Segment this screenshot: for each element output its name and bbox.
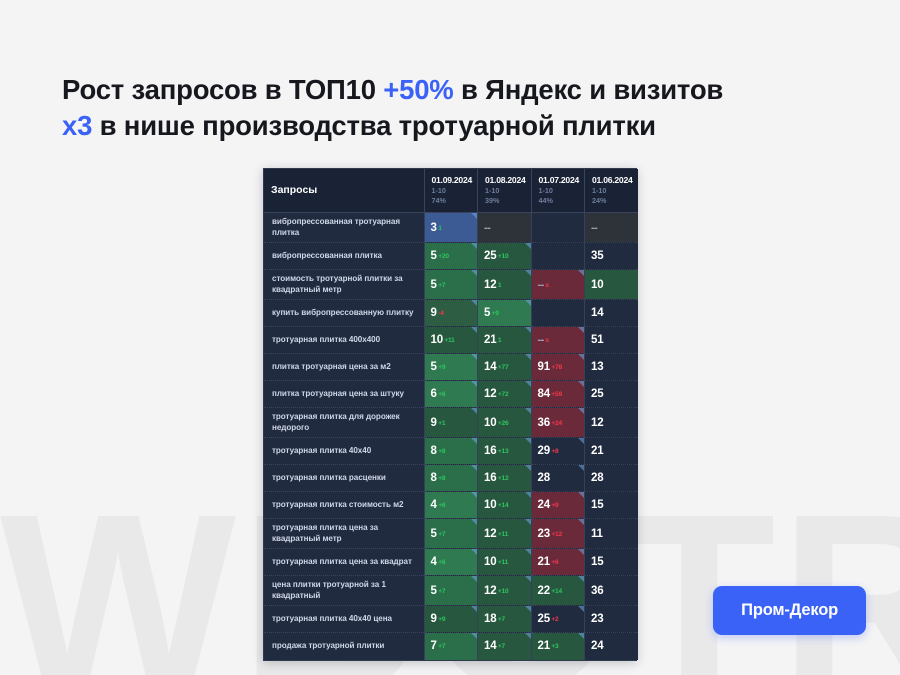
position-cell: 15 (585, 492, 639, 519)
position-cell: -- (585, 213, 639, 243)
position-value: -- (538, 334, 544, 346)
position-cell: 24+9 (531, 492, 585, 519)
position-cell: 8+8 (424, 465, 478, 492)
position-cell: 12+10 (478, 576, 532, 606)
position-delta: +9 (492, 310, 499, 317)
position-delta: +59 (551, 391, 562, 398)
column-header-date-3: 01.06.2024 1-10 24% (585, 169, 639, 213)
position-value: 12 (484, 279, 496, 291)
position-delta: x (545, 282, 548, 289)
query-cell: тротуарная плитка расценки (264, 465, 424, 492)
position-value: 51 (591, 334, 603, 346)
position-value: 13 (591, 361, 603, 373)
position-value: 25 (538, 613, 550, 625)
position-cell: 4+6 (424, 549, 478, 576)
position-delta: +10 (498, 253, 509, 260)
column-header-queries: Запросы (264, 169, 424, 213)
position-value: 12 (484, 585, 496, 597)
position-delta: +8 (438, 448, 445, 455)
position-cell: 16+12 (478, 465, 532, 492)
table-row: плитка тротуарная цена за штуку6+612+728… (264, 381, 638, 408)
position-cell: 10+11 (424, 327, 478, 354)
position-cell: 12+11 (478, 519, 532, 549)
position-value: -- (591, 222, 597, 234)
position-delta: +13 (498, 448, 509, 455)
position-value: 25 (591, 388, 603, 400)
position-delta: +77 (498, 364, 509, 371)
position-delta: +12 (498, 475, 509, 482)
position-cell: 211 (478, 327, 532, 354)
cta-button[interactable]: Пром-Декор (713, 586, 866, 635)
position-cell: 23+12 (531, 519, 585, 549)
position-delta: +7 (498, 643, 505, 650)
percent-label: 74% (432, 196, 471, 205)
position-delta: +20 (438, 253, 449, 260)
position-cell: 6+6 (424, 381, 478, 408)
position-cell: 28 (585, 465, 639, 492)
position-value: 15 (591, 556, 603, 568)
query-cell: тротуарная плитка стоимость м2 (264, 492, 424, 519)
position-value: 3 (431, 222, 437, 234)
table-row: тротуарная плитка для дорожек недорого9+… (264, 408, 638, 438)
position-delta: +11 (498, 559, 508, 566)
range-label: 1-10 (485, 186, 524, 195)
position-value: 18 (484, 613, 496, 625)
query-cell: плитка тротуарная цена за штуку (264, 381, 424, 408)
position-value: 10 (484, 499, 496, 511)
position-value: 21 (538, 556, 550, 568)
position-cell: 14+7 (478, 633, 532, 660)
position-delta: +6 (551, 559, 558, 566)
position-delta: +72 (498, 391, 509, 398)
position-value: 24 (538, 499, 550, 511)
position-delta: +7 (438, 588, 445, 595)
position-value: 28 (591, 472, 603, 484)
position-delta: +7 (438, 531, 445, 538)
position-cell: 21+6 (531, 549, 585, 576)
position-delta: +9 (438, 616, 445, 623)
range-label: 1-10 (432, 186, 471, 195)
position-value: 5 (431, 279, 437, 291)
position-cell: 25 (585, 381, 639, 408)
position-delta: +6 (438, 559, 445, 566)
position-value: 21 (538, 640, 550, 652)
table-row: вибропрессованная плитка5+2025+1035 (264, 243, 638, 270)
position-value: 84 (538, 388, 550, 400)
table-row: стоимость тротуарной плитки за квадратны… (264, 270, 638, 300)
query-cell: тротуарная плитка цена за квадратный мет… (264, 519, 424, 549)
position-value: 9 (431, 417, 437, 429)
position-value: 5 (431, 528, 437, 540)
position-value: 22 (538, 585, 550, 597)
table-row: вибропрессованная тротуарная плитка31---… (264, 213, 638, 243)
position-value: 8 (431, 472, 437, 484)
position-cell: 5+9 (424, 354, 478, 381)
query-cell: тротуарная плитка 40x40 цена (264, 606, 424, 633)
table-row: тротуарная плитка 40x408+816+1329+821 (264, 438, 638, 465)
position-value: 10 (484, 556, 496, 568)
position-delta: +7 (438, 643, 445, 650)
position-cell: 121 (478, 270, 532, 300)
position-delta: 1 (498, 337, 501, 344)
headline-line1-before: Рост запросов в ТОП10 (62, 74, 383, 105)
position-value: 16 (484, 472, 496, 484)
position-delta: +8 (551, 448, 558, 455)
position-value: 21 (591, 445, 603, 457)
position-cell: 4+6 (424, 492, 478, 519)
position-delta: +7 (438, 282, 445, 289)
position-delta: +10 (498, 588, 509, 595)
percent-label: 39% (485, 196, 524, 205)
position-delta: +24 (551, 420, 562, 427)
position-value: 91 (538, 361, 550, 373)
position-value: 12 (484, 388, 496, 400)
position-cell: 24 (585, 633, 639, 660)
range-label: 1-10 (539, 186, 578, 195)
position-delta: +9 (551, 502, 558, 509)
position-delta: +2 (551, 616, 558, 623)
position-delta: +11 (498, 531, 508, 538)
position-cell: 25+2 (531, 606, 585, 633)
position-value: 8 (431, 445, 437, 457)
table-head: Запросы 01.09.2024 1-10 74% 01.08.2024 1… (264, 169, 638, 213)
percent-label: 24% (592, 196, 631, 205)
rankings-table: Запросы 01.09.2024 1-10 74% 01.08.2024 1… (264, 169, 638, 660)
position-value: 10 (591, 279, 603, 291)
query-cell: тротуарная плитка для дорожек недорого (264, 408, 424, 438)
position-cell: 14+77 (478, 354, 532, 381)
position-cell: 16+13 (478, 438, 532, 465)
position-delta: +78 (551, 364, 562, 371)
position-delta: +3 (551, 643, 558, 650)
position-cell: 8+8 (424, 438, 478, 465)
position-value: 36 (591, 585, 603, 597)
position-value: 35 (591, 250, 603, 262)
position-value: 16 (484, 445, 496, 457)
query-cell: вибропрессованная плитка (264, 243, 424, 270)
headline-line1-after: в Яндекс и визитов (454, 74, 724, 105)
position-delta: +11 (444, 337, 454, 344)
position-value: 9 (431, 613, 437, 625)
position-cell: 12 (585, 408, 639, 438)
position-cell: 36 (585, 576, 639, 606)
position-cell: --x (531, 270, 585, 300)
position-cell: 5+20 (424, 243, 478, 270)
column-header-date-1: 01.08.2024 1-10 39% (478, 169, 532, 213)
date-label: 01.06.2024 (592, 175, 631, 185)
position-cell: 23 (585, 606, 639, 633)
position-value: 36 (538, 417, 550, 429)
position-cell: 5+7 (424, 576, 478, 606)
position-value: 5 (431, 585, 437, 597)
position-delta: +9 (438, 364, 445, 371)
position-cell: 7+7 (424, 633, 478, 660)
position-cell: 9-4 (424, 300, 478, 327)
position-value: 9 (431, 307, 437, 319)
table-row: тротуарная плитка 40x40 цена9+918+725+22… (264, 606, 638, 633)
range-label: 1-10 (592, 186, 631, 195)
position-delta: +12 (551, 531, 562, 538)
position-cell: 84+59 (531, 381, 585, 408)
position-value: 12 (591, 417, 603, 429)
position-cell: 91+78 (531, 354, 585, 381)
position-delta: +6 (438, 502, 445, 509)
position-delta: +1 (438, 420, 445, 427)
table-row: цена плитки тротуарной за 1 квадратный5+… (264, 576, 638, 606)
query-cell: стоимость тротуарной плитки за квадратны… (264, 270, 424, 300)
position-cell: 10+26 (478, 408, 532, 438)
position-value: 4 (431, 556, 437, 568)
position-cell: 10+11 (478, 549, 532, 576)
position-cell (531, 243, 585, 270)
position-cell: 5+9 (478, 300, 532, 327)
position-value: 14 (484, 361, 496, 373)
position-cell: 9+9 (424, 606, 478, 633)
query-cell: вибропрессованная тротуарная плитка (264, 213, 424, 243)
position-cell: 29+8 (531, 438, 585, 465)
table-row: плитка тротуарная цена за м25+914+7791+7… (264, 354, 638, 381)
page-title: Рост запросов в ТОП10 +50% в Яндекс и ви… (62, 72, 852, 145)
position-cell: -- (478, 213, 532, 243)
position-delta: +14 (498, 502, 509, 509)
position-value: 23 (591, 613, 603, 625)
position-cell: 10+14 (478, 492, 532, 519)
position-value: -- (538, 279, 544, 291)
position-cell: 51 (585, 327, 639, 354)
query-cell: цена плитки тротуарной за 1 квадратный (264, 576, 424, 606)
position-cell: 9+1 (424, 408, 478, 438)
position-cell: 14 (585, 300, 639, 327)
position-value: 7 (431, 640, 437, 652)
date-label: 01.07.2024 (539, 175, 578, 185)
position-cell: 5+7 (424, 270, 478, 300)
position-cell: 11 (585, 519, 639, 549)
query-cell: тротуарная плитка 400x400 (264, 327, 424, 354)
position-value: 5 (431, 361, 437, 373)
position-cell (531, 213, 585, 243)
position-value: 25 (484, 250, 496, 262)
position-delta: 1 (438, 225, 441, 232)
position-delta: +7 (498, 616, 505, 623)
position-cell: 21 (585, 438, 639, 465)
position-cell: 10 (585, 270, 639, 300)
position-delta: +6 (438, 391, 445, 398)
position-cell: --x (531, 327, 585, 354)
position-delta: -4 (438, 310, 443, 317)
position-value: -- (484, 222, 490, 234)
position-value: 24 (591, 640, 603, 652)
position-cell: 5+7 (424, 519, 478, 549)
position-cell: 15 (585, 549, 639, 576)
position-value: 6 (431, 388, 437, 400)
date-label: 01.08.2024 (485, 175, 524, 185)
position-cell: 12+72 (478, 381, 532, 408)
headline-line2-after: в нише производства тротуарной плитки (92, 110, 656, 141)
position-value: 10 (431, 334, 443, 346)
position-delta: x (545, 337, 548, 344)
column-header-date-2: 01.07.2024 1-10 44% (531, 169, 585, 213)
date-label: 01.09.2024 (432, 175, 471, 185)
query-cell: тротуарная плитка цена за квадрат (264, 549, 424, 576)
headline-accent-percent: +50% (383, 74, 453, 105)
table-header-row: Запросы 01.09.2024 1-10 74% 01.08.2024 1… (264, 169, 638, 213)
table-row: купить вибропрессованную плитку9-45+914 (264, 300, 638, 327)
position-delta: +8 (438, 475, 445, 482)
position-value: 14 (591, 307, 603, 319)
position-value: 21 (484, 334, 496, 346)
position-cell: 21+3 (531, 633, 585, 660)
position-cell: 13 (585, 354, 639, 381)
position-cell: 28 (531, 465, 585, 492)
position-delta: 1 (498, 282, 501, 289)
table-row: тротуарная плитка расценки8+816+122828 (264, 465, 638, 492)
position-cell: 22+14 (531, 576, 585, 606)
table-row: тротуарная плитка цена за квадратный мет… (264, 519, 638, 549)
position-value: 5 (431, 250, 437, 262)
position-delta: +26 (498, 420, 509, 427)
position-value: 28 (538, 472, 550, 484)
query-cell: продажа тротуарной плитки (264, 633, 424, 660)
table-row: тротуарная плитка стоимость м24+610+1424… (264, 492, 638, 519)
query-cell: тротуарная плитка 40x40 (264, 438, 424, 465)
column-header-date-0: 01.09.2024 1-10 74% (424, 169, 478, 213)
rankings-table-card: Запросы 01.09.2024 1-10 74% 01.08.2024 1… (263, 168, 637, 661)
position-value: 12 (484, 528, 496, 540)
table-row: тротуарная плитка 400x40010+11211--x51 (264, 327, 638, 354)
position-value: 11 (591, 528, 603, 540)
position-value: 15 (591, 499, 603, 511)
table-row: продажа тротуарной плитки7+714+721+324 (264, 633, 638, 660)
table-body: вибропрессованная тротуарная плитка31---… (264, 213, 638, 660)
position-cell: 31 (424, 213, 478, 243)
position-value: 29 (538, 445, 550, 457)
table-row: тротуарная плитка цена за квадрат4+610+1… (264, 549, 638, 576)
headline-accent-multiplier: x3 (62, 110, 92, 141)
position-value: 5 (484, 307, 490, 319)
position-cell: 36+24 (531, 408, 585, 438)
query-cell: плитка тротуарная цена за м2 (264, 354, 424, 381)
percent-label: 44% (539, 196, 578, 205)
position-cell: 25+10 (478, 243, 532, 270)
position-value: 10 (484, 417, 496, 429)
position-cell: 35 (585, 243, 639, 270)
position-value: 14 (484, 640, 496, 652)
position-delta: +14 (551, 588, 562, 595)
position-value: 4 (431, 499, 437, 511)
position-value: 23 (538, 528, 550, 540)
position-cell: 18+7 (478, 606, 532, 633)
query-cell: купить вибропрессованную плитку (264, 300, 424, 327)
position-cell (531, 300, 585, 327)
